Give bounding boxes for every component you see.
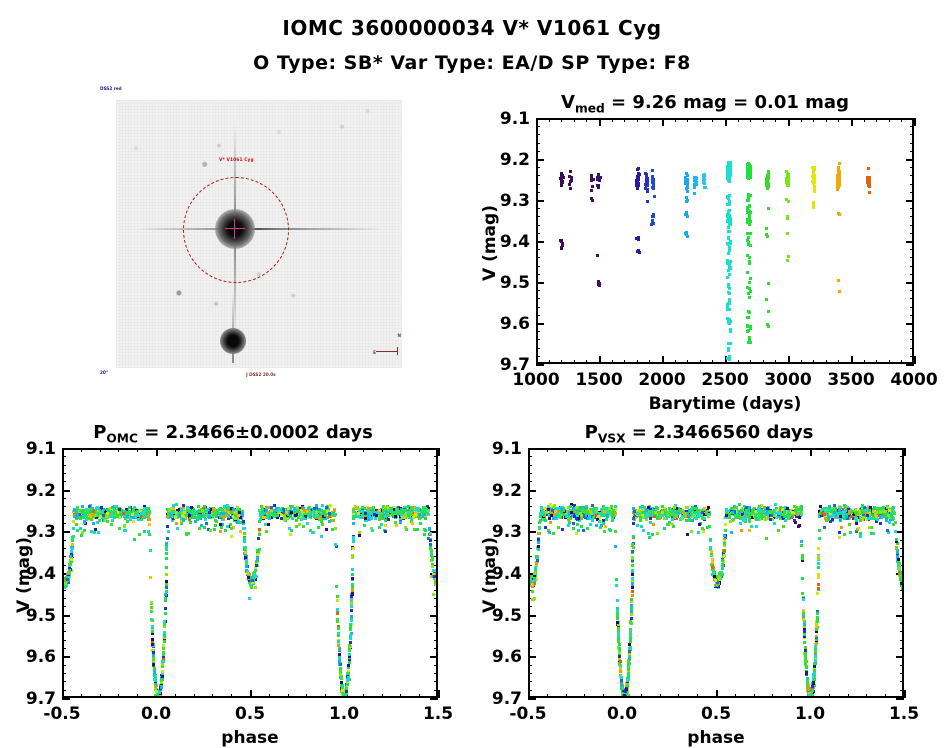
data-point: [645, 177, 648, 180]
data-point: [352, 536, 355, 539]
data-point: [244, 551, 247, 554]
y-tick-label: 9.6: [0, 647, 56, 667]
data-point: [746, 168, 749, 171]
data-point: [347, 672, 350, 675]
data-point: [727, 347, 730, 350]
page-subtitle: O Type: SB* Var Type: EA/D SP Type: F8: [0, 52, 944, 74]
data-point: [274, 513, 277, 516]
data-point: [727, 230, 730, 233]
data-point: [802, 598, 805, 601]
data-point: [693, 186, 696, 189]
data-point: [569, 170, 572, 173]
data-point: [599, 176, 602, 179]
data-point: [652, 222, 655, 225]
data-point: [813, 185, 816, 188]
data-point: [868, 181, 871, 184]
data-point: [730, 531, 733, 534]
data-point: [380, 517, 383, 520]
data-point: [602, 522, 605, 525]
data-point: [560, 182, 563, 185]
data-point: [598, 520, 601, 523]
epoch-note: J DSS2 20.0s: [246, 372, 276, 377]
data-point: [635, 179, 638, 182]
data-point: [561, 528, 564, 531]
data-point: [582, 529, 585, 532]
data-point: [416, 528, 419, 531]
data-point: [243, 527, 246, 530]
data-point: [208, 511, 211, 514]
data-point: [255, 564, 258, 567]
data-point: [800, 544, 803, 547]
data-point: [80, 534, 83, 537]
data-point: [64, 586, 66, 589]
data-point: [178, 514, 181, 517]
data-point: [668, 521, 671, 524]
data-point: [598, 284, 601, 287]
data-point: [569, 187, 572, 190]
data-point: [423, 513, 426, 516]
data-point: [307, 514, 310, 517]
data-point: [397, 512, 400, 515]
data-point: [777, 529, 780, 532]
period-symbol: PVSX = 2.3466560 days: [585, 422, 814, 443]
data-point: [812, 206, 815, 209]
data-point: [154, 678, 157, 681]
data-point: [378, 526, 381, 529]
x-tick-label: 3000: [754, 370, 822, 390]
data-point: [371, 529, 374, 532]
data-point: [152, 663, 155, 666]
data-point: [549, 521, 552, 524]
x-tick-label: 0.5: [216, 704, 284, 724]
data-point: [531, 598, 534, 601]
data-point: [656, 507, 659, 510]
data-point: [163, 635, 166, 638]
data-point: [183, 511, 186, 514]
data-point: [176, 527, 179, 530]
data-point: [142, 512, 145, 515]
y-tick: [528, 698, 536, 700]
data-point: [800, 540, 803, 543]
data-point: [425, 509, 428, 512]
x-tick-label: 1.5: [404, 704, 472, 724]
data-point: [148, 523, 151, 526]
data-point: [151, 630, 154, 633]
data-point: [690, 530, 693, 533]
data-point: [132, 516, 135, 519]
data-point: [596, 254, 599, 257]
period-symbol: POMC = 2.3466±0.0002 days: [93, 422, 373, 443]
data-point: [171, 511, 174, 514]
data-point: [413, 528, 416, 531]
data-point: [749, 341, 752, 344]
data-point: [336, 612, 339, 615]
data-point: [786, 215, 789, 218]
data-point: [151, 638, 154, 641]
data-point: [106, 508, 109, 511]
data-point: [746, 330, 749, 333]
data-point: [75, 523, 78, 526]
data-point: [351, 588, 354, 591]
data-point: [318, 517, 321, 520]
data-point: [652, 184, 655, 187]
data-point: [373, 513, 376, 516]
data-point: [436, 579, 437, 582]
y-tick: [430, 698, 438, 700]
data-point: [162, 647, 165, 650]
x-axis-label: phase: [62, 728, 438, 748]
data-point: [243, 537, 246, 540]
data-point: [843, 533, 846, 536]
data-point: [317, 526, 320, 529]
data-point: [747, 199, 750, 202]
data-point: [321, 504, 324, 507]
data-point: [303, 509, 306, 512]
x-tick-label: -0.5: [28, 704, 96, 724]
data-point: [651, 178, 654, 181]
data-point: [146, 508, 149, 511]
data-point: [174, 516, 177, 519]
data-point: [214, 519, 217, 522]
data-point: [652, 213, 655, 216]
data-point: [727, 302, 730, 305]
data-point: [150, 606, 153, 609]
data-point: [728, 175, 731, 178]
data-point: [766, 185, 769, 188]
data-point: [837, 182, 840, 185]
data-point: [838, 536, 841, 539]
data-point: [162, 660, 165, 663]
data-point: [143, 507, 146, 510]
data-point: [245, 559, 248, 562]
data-point: [351, 583, 354, 586]
data-point: [767, 310, 770, 313]
data-point: [226, 525, 229, 528]
data-point: [823, 526, 826, 529]
data-point: [164, 597, 167, 600]
data-point: [348, 644, 351, 647]
y-tick-label: 9.1: [0, 439, 56, 459]
data-point: [693, 192, 696, 195]
data-point: [110, 523, 113, 526]
data-point: [268, 515, 271, 518]
data-point: [143, 530, 146, 533]
data-point: [786, 259, 789, 262]
data-point: [531, 590, 534, 593]
data-point: [726, 276, 729, 279]
data-point: [165, 557, 168, 560]
data-point: [605, 518, 608, 521]
y-axis-label: V (mag): [14, 537, 34, 613]
folded-vsx-panel: PVSX = 2.3466560 days9.19.29.39.49.59.69…: [466, 412, 932, 747]
vmed-symbol: Vmed = 9.26 mag = 0.01 mag: [561, 92, 849, 113]
data-point: [384, 524, 387, 527]
survey-note: DSS2 red: [100, 86, 122, 91]
scale-bar-tick: [397, 347, 399, 355]
x-tick: [438, 690, 440, 698]
data-point: [642, 529, 645, 532]
data-point: [165, 590, 168, 593]
data-point: [243, 532, 246, 535]
data-point: [325, 528, 328, 531]
y-tick-label: 9.2: [0, 481, 56, 501]
data-point: [868, 191, 871, 194]
data-point: [165, 573, 168, 576]
data-point: [694, 181, 697, 184]
data-point: [686, 180, 689, 183]
data-point: [321, 523, 324, 526]
data-point: [69, 555, 72, 558]
data-point: [285, 511, 288, 514]
data-point: [431, 557, 434, 560]
data-point: [78, 516, 81, 519]
x-tick: [438, 448, 440, 456]
data-point: [801, 577, 804, 580]
data-point: [247, 576, 250, 579]
data-point: [399, 521, 402, 524]
data-point: [816, 592, 819, 595]
data-point: [118, 527, 121, 530]
data-point: [636, 186, 639, 189]
data-point: [740, 529, 743, 532]
data-point: [225, 514, 228, 517]
data-point: [767, 177, 770, 180]
x-tick-label: 1.0: [310, 704, 378, 724]
data-point: [209, 529, 212, 532]
data-point: [311, 531, 314, 534]
data-point: [161, 663, 164, 666]
finder-target-label: V* V1061 Cyg: [219, 158, 254, 163]
data-point: [345, 690, 348, 693]
data-point: [786, 232, 789, 235]
data-point: [351, 573, 354, 576]
data-point: [147, 530, 150, 533]
data-point: [727, 342, 730, 345]
data-point: [879, 522, 882, 525]
data-point: [248, 597, 251, 600]
data-point: [867, 167, 870, 170]
data-point: [836, 188, 839, 191]
data-point: [652, 182, 655, 185]
data-point: [100, 506, 103, 509]
data-point: [652, 523, 655, 526]
data-point: [868, 177, 871, 180]
data-point: [335, 585, 338, 588]
data-point: [401, 516, 404, 519]
data-point: [590, 197, 593, 200]
data-point: [685, 231, 688, 234]
data-point: [726, 306, 729, 309]
data-point: [230, 535, 233, 538]
data-point: [256, 553, 259, 556]
data-point: [223, 505, 226, 508]
data-point: [746, 316, 749, 319]
data-point: [671, 518, 674, 521]
data-point: [162, 644, 165, 647]
data-point: [201, 509, 204, 512]
data-point: [404, 526, 407, 529]
data-point: [198, 527, 201, 530]
data-point: [637, 167, 640, 170]
data-point: [614, 545, 617, 548]
data-point: [358, 534, 361, 537]
data-point: [570, 179, 573, 182]
data-point: [384, 530, 387, 533]
data-point: [348, 649, 351, 652]
data-point: [295, 525, 298, 528]
data-point: [749, 232, 752, 235]
data-point: [149, 576, 152, 579]
data-point: [236, 521, 239, 524]
data-point: [147, 514, 150, 517]
data-point: [162, 652, 165, 655]
data-point: [336, 599, 339, 602]
data-point: [258, 520, 261, 523]
data-point: [165, 566, 168, 569]
data-point: [361, 506, 364, 509]
data-point: [569, 517, 572, 520]
data-point: [702, 178, 705, 181]
y-axis-label: V (mag): [480, 205, 500, 281]
data-point: [92, 522, 95, 525]
data-point: [560, 174, 563, 177]
data-point: [868, 184, 871, 187]
data-point: [747, 310, 750, 313]
data-point: [152, 658, 155, 661]
data-point: [672, 525, 675, 528]
data-point: [320, 535, 323, 538]
data-layer: [538, 120, 912, 362]
data-point: [729, 267, 732, 270]
finder-chart: V* V1061 Cyg N E DSS2 red 20" J DSS2 20.…: [98, 86, 420, 383]
data-point: [586, 527, 589, 530]
data-point: [175, 503, 178, 506]
data-point: [261, 511, 264, 514]
data-point: [148, 518, 151, 521]
x-tick-label: 0.5: [682, 704, 750, 724]
data-point: [297, 516, 300, 519]
data-point: [432, 593, 435, 596]
data-point: [867, 517, 870, 520]
data-point: [568, 183, 571, 186]
data-point: [92, 510, 95, 513]
data-point: [133, 538, 136, 541]
data-point: [380, 523, 383, 526]
data-point: [748, 262, 751, 265]
data-point: [767, 170, 770, 173]
data-point: [786, 184, 789, 187]
data-point: [347, 676, 350, 679]
data-point: [410, 512, 413, 515]
data-point: [299, 513, 302, 516]
x-tick-label: 0.0: [588, 704, 656, 724]
data-point: [349, 634, 352, 637]
data-point: [282, 508, 285, 511]
data-point: [644, 172, 647, 175]
scale-bar: [376, 351, 398, 353]
crosshair-vertical: [234, 219, 236, 239]
folded_omc-title: POMC = 2.3466±0.0002 days: [0, 422, 466, 446]
x-tick-label: -0.5: [494, 704, 562, 724]
data-point: [349, 627, 352, 630]
data-point: [330, 519, 333, 522]
data-point: [239, 530, 242, 533]
data-point: [267, 506, 270, 509]
data-point: [155, 690, 158, 693]
data-point: [189, 516, 192, 519]
data-point: [258, 533, 261, 536]
data-point: [894, 530, 897, 533]
data-point: [415, 507, 418, 510]
x-tick-label: 3500: [817, 370, 885, 390]
data-point: [137, 514, 140, 517]
data-point: [351, 556, 354, 559]
data-point: [767, 325, 770, 328]
data-point: [338, 648, 341, 651]
data-point: [374, 517, 377, 520]
x-tick-label: 4000: [880, 370, 944, 390]
data-point: [748, 281, 751, 284]
data-point: [364, 512, 367, 515]
data-point: [82, 516, 85, 519]
data-point: [352, 522, 355, 525]
data-point: [239, 516, 242, 519]
data-point: [84, 512, 87, 515]
data-point: [748, 205, 751, 208]
data-point: [73, 509, 76, 512]
data-point: [114, 511, 117, 514]
data-point: [95, 507, 98, 510]
data-point: [339, 663, 342, 666]
data-point: [164, 612, 167, 615]
data-point: [264, 523, 267, 526]
data-point: [154, 674, 157, 677]
timeseries-title: Vmed = 9.26 mag = 0.01 mag: [466, 92, 944, 116]
x-tick: [914, 118, 916, 126]
data-point: [232, 508, 235, 511]
data-point: [727, 237, 730, 240]
data-point: [163, 623, 166, 626]
data-point: [186, 506, 189, 509]
data-point: [767, 282, 770, 285]
data-point: [591, 185, 594, 188]
data-point: [339, 673, 342, 676]
data-point: [150, 601, 153, 604]
data-point: [616, 599, 619, 602]
data-point: [663, 527, 666, 530]
data-point: [315, 511, 318, 514]
data-point: [182, 504, 185, 507]
data-point: [686, 506, 689, 509]
data-point: [813, 181, 816, 184]
data-point: [786, 178, 789, 181]
data-point: [242, 520, 245, 523]
data-point: [773, 514, 776, 517]
data-point: [390, 507, 393, 510]
data-point: [644, 183, 647, 186]
data-point: [188, 514, 191, 517]
data-point: [590, 179, 593, 182]
data-point: [429, 539, 432, 542]
data-point: [708, 525, 711, 528]
y-tick-label: 9.6: [466, 314, 530, 334]
data-point: [222, 516, 225, 519]
data-point: [220, 526, 223, 529]
data-point: [727, 252, 730, 255]
data-point: [824, 517, 827, 520]
data-point: [702, 530, 705, 533]
data-point: [164, 593, 167, 596]
